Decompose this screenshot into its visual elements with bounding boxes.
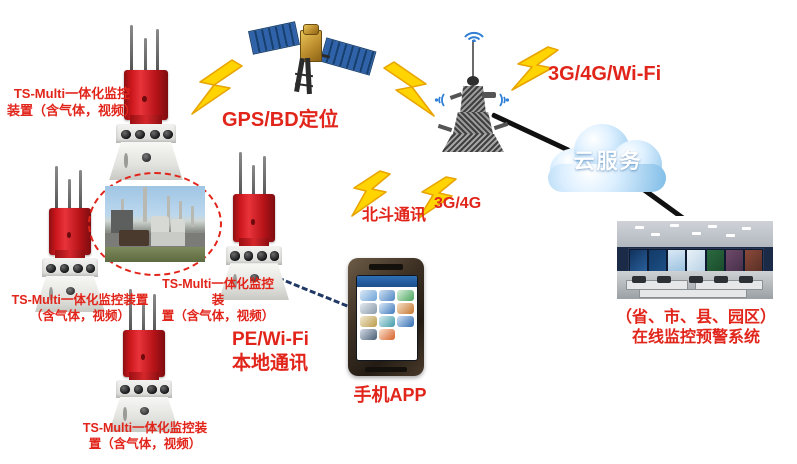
tablet-bottom-bezel: [365, 367, 408, 373]
app-icon[interactable]: [397, 316, 413, 327]
wifi-signal-left-icon: [430, 92, 448, 108]
sensor-port: [134, 385, 144, 394]
label-device-top-left: TS-Multi一体化监控 装置（含气体，视频）: [2, 86, 142, 119]
app-icon[interactable]: [360, 290, 376, 301]
sensor-collar: [116, 124, 175, 144]
plant-image: [105, 186, 204, 263]
app-icon[interactable]: [397, 303, 413, 314]
sensor-collar: [226, 246, 282, 265]
app-icon[interactable]: [397, 290, 413, 301]
app-icon[interactable]: [379, 303, 395, 314]
app-icon[interactable]: [360, 303, 376, 314]
sensor-port: [121, 130, 131, 140]
label-beidou: 北斗通讯: [346, 206, 442, 226]
satellite-icon: [248, 12, 374, 98]
sensor-port: [120, 385, 130, 394]
tablet-screen[interactable]: [356, 275, 417, 362]
rugged-tablet-device[interactable]: [348, 258, 424, 376]
sensor-port: [73, 264, 83, 273]
wifi-signal-top-icon: [462, 24, 486, 42]
label-control-center: （省、市、县、园区） 在线监控预警系统: [600, 308, 792, 349]
cell-tower-icon: [430, 24, 516, 152]
label-3g4g: 3G/4G: [434, 194, 504, 214]
sensor-port: [230, 251, 240, 260]
label-device-mid-left: TS-Multi一体化监控装置 （含气体，视频）: [0, 292, 160, 324]
sensor-red-body: [49, 208, 92, 255]
sensor-collar: [116, 380, 172, 398]
label-device-bottom: TS-Multi一体化监控装 置（含气体，视频）: [72, 420, 218, 452]
tablet-app-grid[interactable]: [357, 287, 416, 343]
sensor-port: [160, 385, 170, 394]
sensor-port: [147, 385, 157, 394]
app-icon[interactable]: [397, 329, 413, 340]
label-local-comm: PE/Wi-Fi 本地通讯: [232, 328, 342, 377]
app-icon[interactable]: [360, 329, 376, 340]
cloud-label: 云服务: [544, 145, 672, 175]
tablet-status-bar: [357, 276, 416, 287]
sensor-port: [163, 130, 173, 140]
app-icon[interactable]: [360, 316, 376, 327]
label-3g4g-wifi: 3G/4G/Wi-Fi: [548, 62, 708, 88]
tablet-top-bezel: [369, 264, 402, 270]
wifi-signal-right-icon: [496, 92, 514, 108]
control-room-photo: [606, 216, 784, 304]
sensor-port: [257, 251, 267, 260]
label-device-mid-right: TS-Multi一体化监控装 置（含气体，视频）: [158, 276, 278, 324]
app-icon[interactable]: [379, 316, 395, 327]
label-gps-bd: GPS/BD定位: [222, 108, 362, 134]
sensor-port: [270, 251, 280, 260]
sensor-port: [46, 264, 56, 273]
sensor-port: [150, 130, 160, 140]
sensor-red-body: [233, 194, 276, 242]
industrial-plant-photo: [88, 172, 222, 276]
sensor-port: [60, 264, 70, 273]
sensor-red-body: [123, 330, 166, 376]
diagram-canvas: 云服务: [0, 0, 797, 464]
app-icon[interactable]: [379, 329, 395, 340]
video-wall: [628, 248, 765, 273]
cloud-service-icon: 云服务: [544, 118, 672, 194]
sensor-port: [244, 251, 254, 260]
sensor-port: [135, 130, 145, 140]
label-phone-app: 手机APP: [340, 384, 440, 407]
app-icon[interactable]: [379, 290, 395, 301]
